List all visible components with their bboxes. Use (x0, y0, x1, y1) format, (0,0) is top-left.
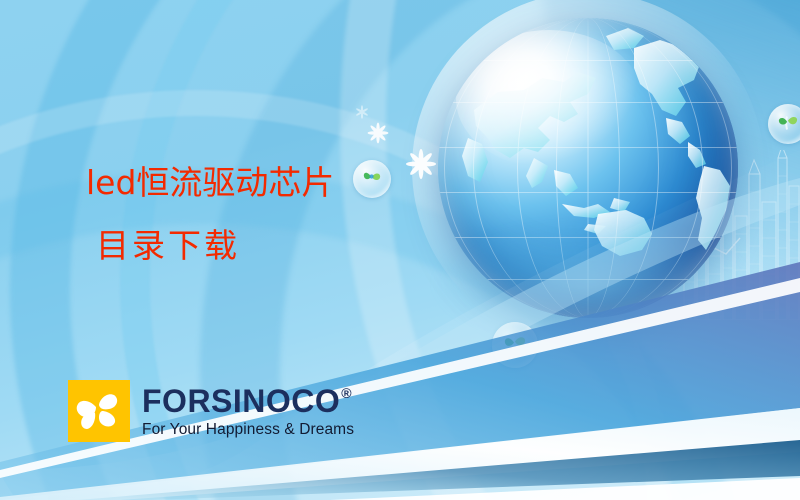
bubble-leaf-icon (768, 104, 800, 144)
headline: led恒流驱动芯片 目录下载 (86, 166, 334, 262)
bubble-globe-icon (353, 160, 391, 198)
registered-trademark-icon: ® (341, 386, 352, 400)
four-petal-pinwheel-icon (68, 380, 130, 442)
bubble-leaf-icon (492, 322, 538, 368)
brand-name: FORSINOCO ® (142, 385, 354, 417)
brand-logo: FORSINOCO ® For Your Happiness & Dreams (68, 380, 354, 442)
white-flower-icon (404, 147, 438, 186)
promo-banner: led恒流驱动芯片 目录下载 FORSINOCO ® For Your Happ… (0, 0, 800, 500)
white-flower-icon (354, 104, 370, 125)
headline-line-2: 目录下载 (96, 229, 334, 262)
brand-name-text: FORSINOCO (142, 385, 340, 417)
headline-line-1: led恒流驱动芯片 (86, 166, 334, 199)
white-flower-icon (366, 121, 390, 150)
globe-reflection (432, 218, 752, 348)
logo-text-block: FORSINOCO ® For Your Happiness & Dreams (142, 385, 354, 438)
brand-tagline: For Your Happiness & Dreams (142, 422, 354, 438)
earth-globe-icon (438, 18, 738, 318)
